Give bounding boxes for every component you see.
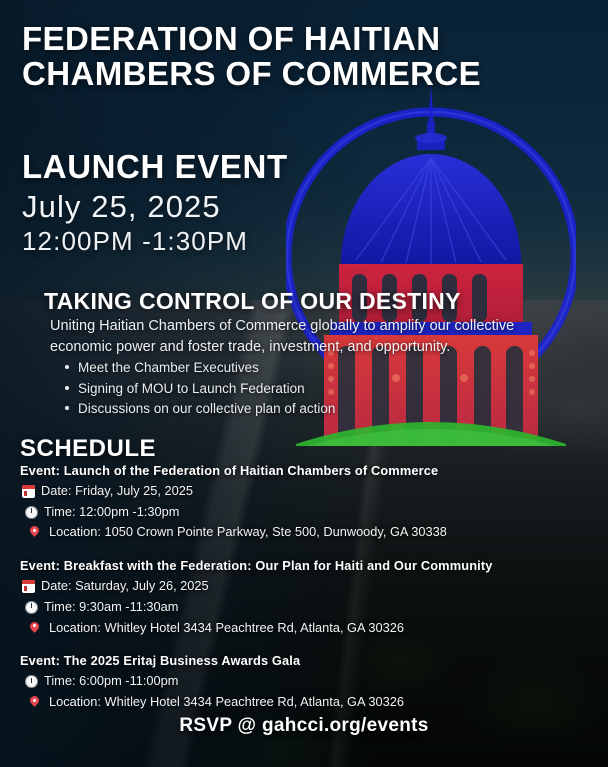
highlights-list: Meet the Chamber Executives Signing of M… — [62, 358, 335, 420]
schedule-heading: SCHEDULE — [20, 435, 156, 463]
event-time-row: Time: 9:30am -11:30am — [20, 597, 588, 618]
schedule-list: Event: Launch of the Federation of Haiti… — [20, 463, 588, 728]
tagline-subtitle: Uniting Haitian Chambers of Commerce glo… — [50, 316, 570, 357]
map-pin-icon — [30, 696, 43, 709]
clock-icon — [25, 506, 38, 519]
calendar-icon — [22, 485, 35, 498]
map-pin-icon — [30, 622, 43, 635]
organization-title: FEDERATION OF HAITIAN CHAMBERS OF COMMER… — [22, 22, 552, 92]
event-time-row: Time: 12:00pm -1:30pm — [20, 502, 588, 523]
event-time-row: Time: 6:00pm -11:00pm — [20, 671, 588, 692]
event-location-row: Location: 1050 Crown Pointe Parkway, Ste… — [20, 522, 588, 543]
event-time: Time: 9:30am -11:30am — [44, 597, 178, 618]
event-location: Location: Whitley Hotel 3434 Peachtree R… — [49, 692, 404, 713]
list-item: Discussions on our collective plan of ac… — [78, 399, 335, 420]
schedule-event-3: Event: The 2025 Eritaj Business Awards G… — [20, 653, 588, 712]
event-time: Time: 6:00pm -11:00pm — [44, 671, 178, 692]
event-date-row: Date: Friday, July 25, 2025 — [20, 481, 588, 502]
list-item: Meet the Chamber Executives — [78, 358, 335, 379]
list-item: Signing of MOU to Launch Federation — [78, 379, 335, 400]
clock-icon — [25, 601, 38, 614]
event-location-row: Location: Whitley Hotel 3434 Peachtree R… — [20, 692, 588, 713]
event-flyer: FEDERATION OF HAITIAN CHAMBERS OF COMMER… — [0, 0, 608, 767]
event-date-row: Date: Saturday, July 26, 2025 — [20, 576, 588, 597]
clock-icon — [25, 675, 38, 688]
event-location-row: Location: Whitley Hotel 3434 Peachtree R… — [20, 618, 588, 639]
launch-event-title: LAUNCH EVENT — [22, 148, 288, 186]
map-pin-icon — [30, 526, 43, 539]
event-date: Date: Saturday, July 26, 2025 — [41, 576, 209, 597]
launch-event-date: July 25, 2025 — [22, 189, 221, 225]
schedule-event-1: Event: Launch of the Federation of Haiti… — [20, 463, 588, 543]
launch-event-time: 12:00PM -1:30PM — [22, 226, 248, 257]
event-title: Event: The 2025 Eritaj Business Awards G… — [20, 653, 588, 668]
event-date: Date: Friday, July 25, 2025 — [41, 481, 193, 502]
event-title: Event: Launch of the Federation of Haiti… — [20, 463, 588, 478]
rsvp-footer[interactable]: RSVP @ gahcci.org/events — [0, 715, 608, 737]
event-location: Location: 1050 Crown Pointe Parkway, Ste… — [49, 522, 447, 543]
tagline-headline: TAKING CONTROL OF OUR DESTINY — [44, 288, 584, 315]
event-title: Event: Breakfast with the Federation: Ou… — [20, 558, 588, 573]
schedule-event-2: Event: Breakfast with the Federation: Ou… — [20, 558, 588, 638]
calendar-icon — [22, 580, 35, 593]
event-location: Location: Whitley Hotel 3434 Peachtree R… — [49, 618, 404, 639]
event-time: Time: 12:00pm -1:30pm — [44, 502, 179, 523]
